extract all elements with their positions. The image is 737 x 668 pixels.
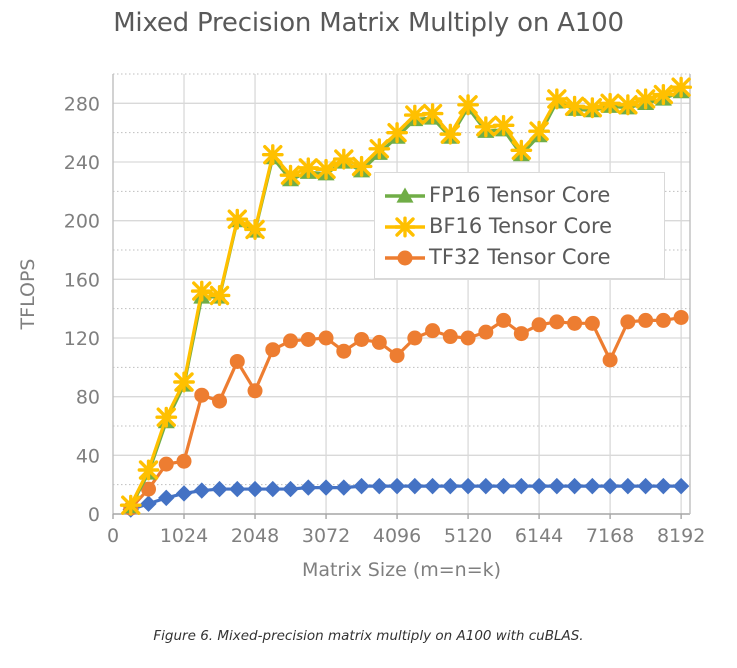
x-tick-label: 4096 xyxy=(373,525,421,547)
x-tick-label: 6144 xyxy=(515,525,563,547)
x-tick-label: 3072 xyxy=(302,525,350,547)
data-marker-cross xyxy=(228,210,246,228)
data-marker-cross xyxy=(246,221,264,239)
data-marker-cross xyxy=(494,117,512,135)
data-marker-circle xyxy=(390,348,405,363)
legend-key-circle-icon xyxy=(383,247,427,267)
data-marker-circle xyxy=(478,325,493,340)
x-tick-label: 7168 xyxy=(586,525,634,547)
data-marker-circle xyxy=(354,332,369,347)
data-marker-circle xyxy=(674,310,689,325)
data-marker-circle xyxy=(496,313,511,328)
chart-legend: FP16 Tensor Core BF16 Tensor Core TF32 T… xyxy=(374,172,665,279)
data-marker-cross xyxy=(512,141,530,159)
data-marker-cross xyxy=(139,461,157,479)
legend-item-bf16[interactable]: BF16 Tensor Core xyxy=(383,210,652,241)
data-marker-cross xyxy=(317,161,335,179)
data-marker-circle xyxy=(514,326,529,341)
data-marker-cross xyxy=(636,90,654,108)
data-marker-cross xyxy=(406,106,424,124)
data-marker-cross xyxy=(370,140,388,158)
data-marker-cross xyxy=(299,159,317,177)
data-marker-circle xyxy=(248,383,263,398)
data-marker-cross xyxy=(441,125,459,143)
data-marker-cross xyxy=(548,90,566,108)
data-marker-circle xyxy=(443,329,458,344)
legend-label-fp16: FP16 Tensor Core xyxy=(429,183,610,207)
legend-label-bf16: BF16 Tensor Core xyxy=(429,214,612,238)
chart-canvas: 0408012016020024028001024204830724096512… xyxy=(0,0,737,620)
y-tick-label: 160 xyxy=(64,269,100,291)
data-marker-cross xyxy=(157,408,175,426)
data-marker-cross xyxy=(193,282,211,300)
data-marker-circle xyxy=(567,316,582,331)
legend-key-triangle-icon xyxy=(383,185,427,205)
data-marker-cross xyxy=(601,95,619,113)
data-marker-circle xyxy=(212,394,227,409)
legend-key-cross-icon xyxy=(383,216,427,236)
x-axis-title: Matrix Size (m=n=k) xyxy=(302,559,501,581)
legend-item-tf32[interactable]: TF32 Tensor Core xyxy=(383,241,652,272)
data-marker-cross xyxy=(477,118,495,136)
data-marker-cross xyxy=(210,287,228,305)
legend-item-fp16[interactable]: FP16 Tensor Core xyxy=(383,179,652,210)
data-marker-circle xyxy=(283,333,298,348)
data-marker-cross xyxy=(388,124,406,142)
x-tick-label: 5120 xyxy=(444,525,492,547)
data-marker-cross xyxy=(672,78,690,96)
data-marker-circle xyxy=(585,316,600,331)
legend-key-cross-icon-glyph xyxy=(383,216,427,238)
legend-key-triangle-icon-glyph xyxy=(383,185,427,207)
x-tick-label: 1024 xyxy=(160,525,208,547)
y-tick-label: 120 xyxy=(64,328,100,350)
data-marker-cross xyxy=(352,158,370,176)
data-marker-cross xyxy=(565,97,583,115)
data-marker-cross xyxy=(396,218,414,236)
data-marker-circle xyxy=(656,313,671,328)
data-marker-circle xyxy=(177,454,192,469)
data-marker-circle xyxy=(301,332,316,347)
data-marker-cross xyxy=(530,122,548,140)
y-tick-label: 200 xyxy=(64,211,100,233)
data-marker-circle xyxy=(532,317,547,332)
data-marker-circle xyxy=(603,353,618,368)
data-marker-circle xyxy=(461,331,476,346)
figure-container: Mixed Precision Matrix Multiply on A100 … xyxy=(0,0,737,668)
data-marker-cross xyxy=(619,96,637,114)
data-marker-circle xyxy=(319,331,334,346)
data-marker-circle xyxy=(425,323,440,338)
data-marker-cross xyxy=(122,496,140,514)
data-marker-circle xyxy=(194,388,209,403)
y-tick-label: 0 xyxy=(88,504,100,526)
data-marker-circle xyxy=(549,314,564,329)
figure-caption: Figure 6. Mixed-precision matrix multipl… xyxy=(0,628,737,644)
y-tick-label: 240 xyxy=(64,152,100,174)
y-tick-label: 280 xyxy=(64,93,100,115)
data-marker-circle xyxy=(638,313,653,328)
legend-label-tf32: TF32 Tensor Core xyxy=(429,245,611,269)
x-tick-label: 2048 xyxy=(231,525,279,547)
x-tick-label: 0 xyxy=(107,525,119,547)
y-tick-label: 80 xyxy=(76,387,100,409)
y-tick-label: 40 xyxy=(76,445,100,467)
data-marker-circle xyxy=(230,354,245,369)
data-marker-circle xyxy=(336,344,351,359)
data-marker-cross xyxy=(175,373,193,391)
data-marker-cross xyxy=(459,96,477,114)
data-marker-cross xyxy=(335,150,353,168)
data-marker-circle xyxy=(159,457,174,472)
x-tick-label: 8192 xyxy=(657,525,705,547)
data-marker-cross xyxy=(264,146,282,164)
data-marker-cross xyxy=(654,86,672,104)
data-marker-circle xyxy=(265,342,280,357)
data-marker-cross xyxy=(423,105,441,123)
data-marker-circle xyxy=(398,250,413,265)
data-marker-cross xyxy=(281,166,299,184)
legend-key-circle-icon-glyph xyxy=(383,247,427,269)
data-marker-circle xyxy=(620,314,635,329)
data-marker-circle xyxy=(407,331,422,346)
y-axis-title: TFLOPS xyxy=(17,259,39,331)
data-marker-cross xyxy=(583,99,601,117)
data-marker-circle xyxy=(372,335,387,350)
